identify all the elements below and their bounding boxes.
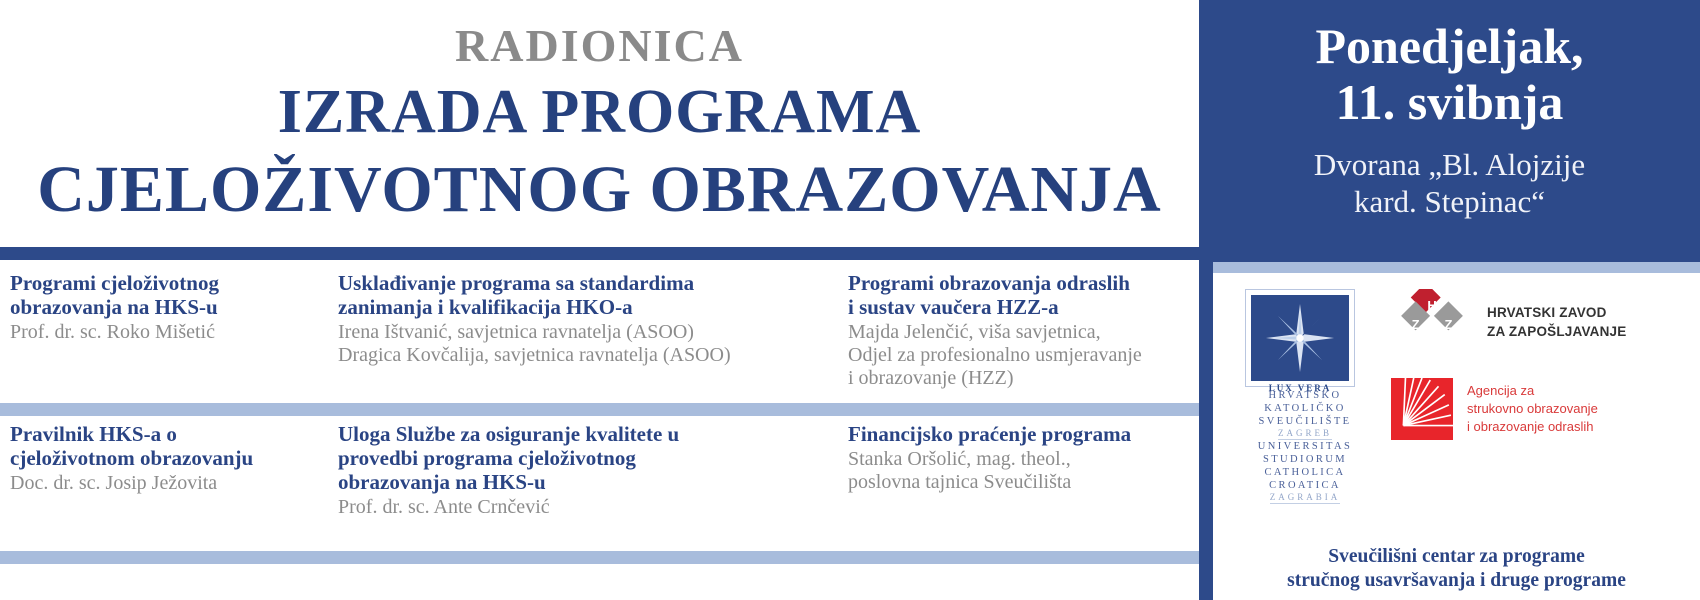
- title-line: Financijsko praćenje programa: [848, 423, 1191, 447]
- hks-latin-line: UNIVERSITAS: [1245, 441, 1365, 454]
- title-line: i sustav vaučera HZZ-a: [848, 296, 1191, 320]
- caption-line: stručnog usavršavanja i druge programe: [1221, 569, 1692, 594]
- program-item-speakers: Prof. dr. sc. Ante Crnčević: [338, 496, 830, 519]
- logo-card-accent-bar: [1213, 262, 1700, 273]
- program-row-1: Programi cjeloživotnog obrazovanja na HK…: [0, 272, 1199, 400]
- hks-latin-line: CATHOLICA: [1245, 467, 1365, 480]
- partner-logos: H Z Z HRVATSKI ZAVOD ZA ZAPOŠLJAVANJE: [1391, 289, 1682, 462]
- venue-line: kard. Stepinac“: [1217, 183, 1682, 220]
- speaker-line: i obrazovanje (HZZ): [848, 367, 1191, 390]
- speaker-line: Prof. dr. sc. Roko Mišetić: [10, 321, 322, 344]
- asoo-wordmark: Agencija za strukovno obrazovanje i obra…: [1467, 382, 1598, 436]
- svg-text:Z: Z: [1444, 317, 1452, 332]
- poster-root: RADIONICA IZRADA PROGRAMA CJELOŽIVOTNOG …: [0, 0, 1700, 600]
- asoo-partner: Agencija za strukovno obrazovanje i obra…: [1391, 378, 1682, 440]
- asoo-burst-icon: [1391, 378, 1453, 440]
- hzz-diamond-icon: H Z Z: [1391, 289, 1473, 356]
- title-line: zanimanja i kvalifikacija HKO-a: [338, 296, 830, 320]
- title-line: obrazovanja na HKS-u: [10, 296, 322, 320]
- program-item-title: Programi cjeloživotnog obrazovanja na HK…: [10, 272, 322, 320]
- title-line: provedbi programa cjeloživotnog: [338, 447, 830, 471]
- program-item-title: Programi obrazovanja odraslih i sustav v…: [848, 272, 1191, 320]
- divider-dark: [0, 247, 1199, 260]
- asoo-text-line: i obrazovanje odraslih: [1467, 418, 1598, 436]
- hks-latin-line: CROATICA: [1245, 480, 1365, 493]
- date-block: Ponedjeljak, 11. svibnja Dvorana „Bl. Al…: [1199, 0, 1700, 247]
- program-item: Financijsko praćenje programa Stanka Orš…: [840, 423, 1199, 549]
- title-line: cjeloživotnom obrazovanju: [10, 447, 322, 471]
- hks-word-line: HRVATSKO: [1245, 390, 1365, 403]
- hks-latin-line-faint: ZAGRABIA: [1270, 492, 1341, 504]
- asoo-text-line: Agencija za: [1467, 382, 1598, 400]
- hzz-wordmark: HRVATSKI ZAVOD ZA ZAPOŠLJAVANJE: [1487, 304, 1626, 340]
- speaker-line: Stanka Oršolić, mag. theol.,: [848, 448, 1191, 471]
- program-item-speakers: Irena Ištvanić, savjetnica ravnatelja (A…: [338, 321, 830, 367]
- program-row-2: Pravilnik HKS-a o cjeloživotnom obrazova…: [0, 423, 1199, 549]
- speaker-line: Dragica Kovčalija, savjetnica ravnatelja…: [338, 344, 830, 367]
- date-line: Ponedjeljak,: [1217, 18, 1682, 74]
- hks-wordmark: HRVATSKO KATOLIČKO SVEUČILIŠTE ZAGREB UN…: [1245, 390, 1365, 505]
- program-item-speakers: Majda Jelenčić, viša savjetnica, Odjel z…: [848, 321, 1191, 391]
- hks-logo-frame: LUX VERA: [1245, 289, 1355, 387]
- venue-line: Dvorana „Bl. Alojzije: [1217, 146, 1682, 183]
- event-date: Ponedjeljak, 11. svibnja: [1217, 18, 1682, 130]
- divider-light-2: [0, 551, 1199, 564]
- event-venue: Dvorana „Bl. Alojzije kard. Stepinac“: [1217, 146, 1682, 220]
- logo-card: LUX VERA HRVATSKO KATOLIČKO SVEUČILIŠTE …: [1213, 262, 1700, 600]
- title-line: Programi cjeloživotnog: [10, 272, 322, 296]
- logo-card-content: LUX VERA HRVATSKO KATOLIČKO SVEUČILIŠTE …: [1213, 273, 1700, 600]
- program-item-speakers: Stanka Oršolić, mag. theol., poslovna ta…: [848, 448, 1191, 494]
- event-kicker: RADIONICA: [0, 22, 1199, 70]
- program-item-speakers: Prof. dr. sc. Roko Mišetić: [10, 321, 322, 344]
- main-area: RADIONICA IZRADA PROGRAMA CJELOŽIVOTNOG …: [0, 0, 1199, 600]
- logo-row: LUX VERA HRVATSKO KATOLIČKO SVEUČILIŠTE …: [1231, 289, 1682, 505]
- title-line: Uloga Službe za osiguranje kvalitete u: [338, 423, 830, 447]
- divider-light-1: [0, 403, 1199, 416]
- title-line: Pravilnik HKS-a o: [10, 423, 322, 447]
- hks-latin-line: STUDIORUM: [1245, 454, 1365, 467]
- speaker-line: Doc. dr. sc. Josip Ježovita: [10, 472, 322, 495]
- title-block: RADIONICA IZRADA PROGRAMA CJELOŽIVOTNOG …: [0, 0, 1199, 247]
- hks-university-logo: LUX VERA HRVATSKO KATOLIČKO SVEUČILIŠTE …: [1245, 289, 1365, 505]
- program-item-title: Financijsko praćenje programa: [848, 423, 1191, 447]
- speaker-line: Majda Jelenčić, viša savjetnica,: [848, 321, 1191, 344]
- hzz-partner: H Z Z HRVATSKI ZAVOD ZA ZAPOŠLJAVANJE: [1391, 289, 1682, 356]
- hks-word-line: KATOLIČKO: [1245, 403, 1365, 416]
- centre-caption: Sveučilišni centar za programe stručnog …: [1213, 545, 1700, 594]
- title-line: Usklađivanje programa sa standardima: [338, 272, 830, 296]
- title-line-2: CJELOŽIVOTNOG OBRAZOVANJA: [10, 151, 1189, 229]
- title-line: obrazovanja na HKS-u: [338, 471, 830, 495]
- caption-line: Sveučilišni centar za programe: [1221, 545, 1692, 570]
- speaker-line: Prof. dr. sc. Ante Crnčević: [338, 496, 830, 519]
- program-item: Programi obrazovanja odraslih i sustav v…: [840, 272, 1199, 400]
- hzz-text-line: ZA ZAPOŠLJAVANJE: [1487, 323, 1626, 341]
- hks-word-line-faint: ZAGREB: [1278, 428, 1332, 440]
- hks-word-line: SVEUČILIŠTE: [1245, 416, 1365, 429]
- hzz-text-line: HRVATSKI ZAVOD: [1487, 304, 1626, 322]
- program-item: Uloga Službe za osiguranje kvalitete u p…: [330, 423, 840, 549]
- sidebar: Ponedjeljak, 11. svibnja Dvorana „Bl. Al…: [1199, 0, 1700, 600]
- program-item-title: Usklađivanje programa sa standardima zan…: [338, 272, 830, 320]
- program-item-speakers: Doc. dr. sc. Josip Ježovita: [10, 472, 322, 495]
- star-icon: [1251, 295, 1349, 381]
- page-title: IZRADA PROGRAMA CJELOŽIVOTNOG OBRAZOVANJ…: [0, 76, 1199, 229]
- program-item: Programi cjeloživotnog obrazovanja na HK…: [0, 272, 330, 400]
- program-item-title: Uloga Službe za osiguranje kvalitete u p…: [338, 423, 830, 495]
- program-item: Usklađivanje programa sa standardima zan…: [330, 272, 840, 400]
- asoo-text-line: strukovno obrazovanje: [1467, 400, 1598, 418]
- title-line: Programi obrazovanja odraslih: [848, 272, 1191, 296]
- svg-text:Z: Z: [1412, 317, 1420, 332]
- speaker-line: Odjel za profesionalno usmjeravanje: [848, 344, 1191, 367]
- program-item: Pravilnik HKS-a o cjeloživotnom obrazova…: [0, 423, 330, 549]
- speaker-line: Irena Ištvanić, savjetnica ravnatelja (A…: [338, 321, 830, 344]
- svg-text:H: H: [1427, 298, 1436, 313]
- program-item-title: Pravilnik HKS-a o cjeloživotnom obrazova…: [10, 423, 322, 471]
- date-line: 11. svibnja: [1217, 74, 1682, 130]
- speaker-line: poslovna tajnica Sveučilišta: [848, 471, 1191, 494]
- title-line-1: IZRADA PROGRAMA: [278, 78, 922, 146]
